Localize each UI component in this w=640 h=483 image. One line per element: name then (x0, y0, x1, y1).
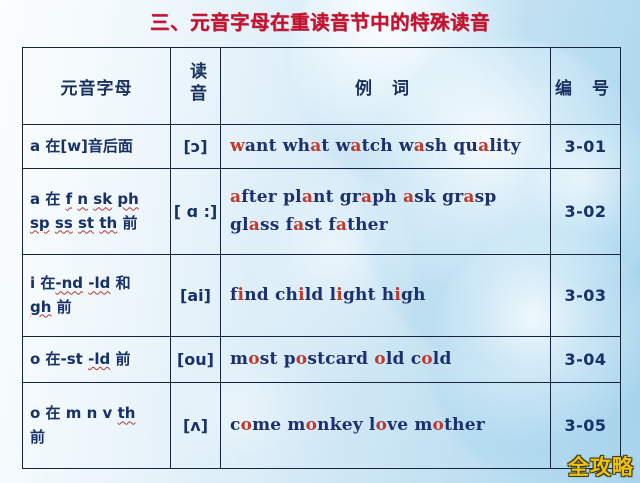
row-5-phonetic: [ʌ] (171, 383, 221, 469)
header-pronunciation: 读音 (171, 48, 221, 125)
row-5-examples: come monkey love mother (221, 383, 551, 469)
row-2-examples: after plant graph ask grasp glass fast f… (221, 169, 551, 255)
row-5-letter-rule: o 在 m n v th 前 (23, 383, 171, 469)
watermark-label: 全攻略 (568, 451, 634, 481)
row-1-examples: want what watch wash quality (221, 125, 551, 169)
table-row: a 在[w]音后面 [ɔ] want what watch wash quali… (23, 125, 621, 169)
row-2-examples-line-1: after plant graph ask grasp (230, 184, 550, 212)
row-5-letter-line-2: 前 (30, 426, 170, 449)
row-3-phonetic: [ai] (171, 255, 221, 337)
header-pronunciation-label: 读音 (187, 62, 204, 106)
row-2-letter-line-2: sp ss st th 前 (30, 212, 170, 235)
vowel-pronunciation-table: 元音字母 读音 例 词 编 号 a 在[w]音后面 [ɔ] want what … (22, 47, 621, 469)
row-1-letter-text: a 在[w]音后面 (30, 137, 133, 155)
slide-canvas: 三、元音字母在重读音节中的特殊读音 元音字母 读音 例 词 编 号 a 在[w]… (0, 0, 640, 483)
row-3-letter-rule: i 在-nd -ld 和 gh 前 (23, 255, 171, 337)
row-3-examples: find child light high (221, 255, 551, 337)
row-4-phonetic: [ou] (171, 337, 221, 383)
row-2-examples-line-2: glass fast father (230, 212, 550, 240)
row-1-examples-line-1: want what watch wash quality (230, 136, 521, 156)
row-4-examples: most postcard old cold (221, 337, 551, 383)
row-3-examples-line-1: find child light high (230, 285, 426, 305)
row-4-number: 3-04 (551, 337, 621, 383)
row-4-letter-rule: o 在-st -ld 前 (23, 337, 171, 383)
row-4-letter-line-1: o 在-st -ld 前 (30, 348, 170, 371)
row-5-examples-line-1: come monkey love mother (230, 415, 485, 435)
row-2-phonetic: [ ɑ :] (171, 169, 221, 255)
row-3-letter-line-2: gh 前 (30, 296, 170, 319)
table-header-row: 元音字母 读音 例 词 编 号 (23, 48, 621, 125)
header-number: 编 号 (551, 48, 621, 125)
row-1-number: 3-01 (551, 125, 621, 169)
table-row: o 在-st -ld 前 [ou] most postcard old cold… (23, 337, 621, 383)
table-row: i 在-nd -ld 和 gh 前 [ai] find child light … (23, 255, 621, 337)
row-2-number: 3-02 (551, 169, 621, 255)
table-row: o 在 m n v th 前 [ʌ] come monkey love moth… (23, 383, 621, 469)
table-row: a 在 f n sk ph sp ss st th 前 [ ɑ :] after… (23, 169, 621, 255)
row-3-number: 3-03 (551, 255, 621, 337)
row-1-letter-rule: a 在[w]音后面 (23, 125, 171, 169)
row-3-letter-line-1: i 在-nd -ld 和 (30, 272, 170, 295)
header-example-words: 例 词 (221, 48, 551, 125)
row-1-phonetic: [ɔ] (171, 125, 221, 169)
slide-title: 三、元音字母在重读音节中的特殊读音 (0, 6, 640, 35)
row-4-examples-line-1: most postcard old cold (230, 349, 452, 369)
header-vowel-letter: 元音字母 (23, 48, 171, 125)
row-2-letter-rule: a 在 f n sk ph sp ss st th 前 (23, 169, 171, 255)
row-2-letter-line-1: a 在 f n sk ph (30, 188, 170, 211)
row-5-letter-line-1: o 在 m n v th (30, 402, 170, 425)
